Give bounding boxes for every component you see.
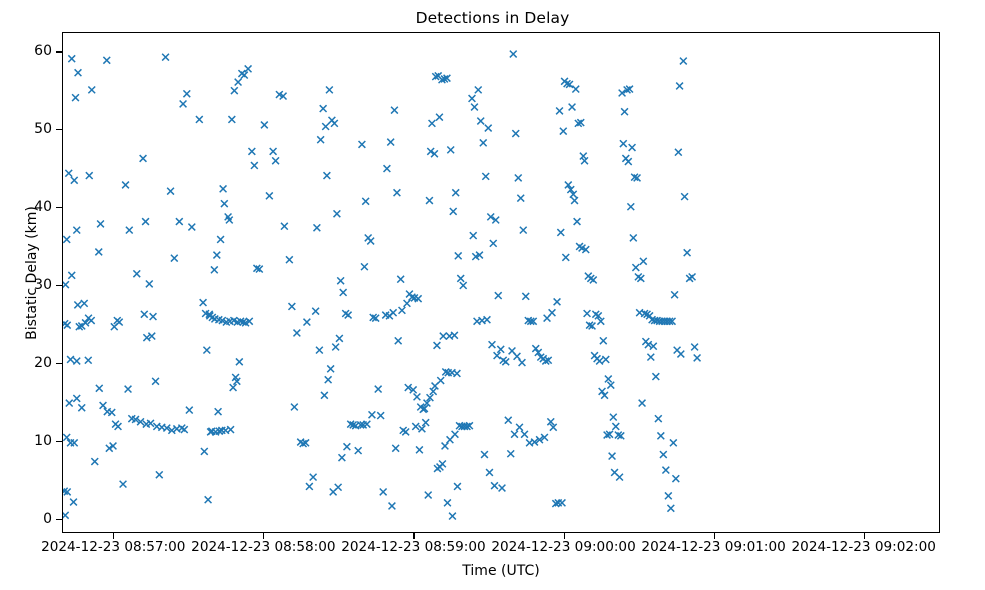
scatter-marker: [63, 434, 70, 441]
scatter-marker: [97, 220, 104, 227]
scatter-points-layer: [63, 33, 940, 533]
scatter-marker: [66, 400, 73, 407]
scatter-marker: [665, 492, 672, 499]
chart-title: Detections in Delay: [0, 9, 985, 27]
scatter-marker: [75, 69, 82, 76]
scatter-marker: [122, 182, 129, 189]
scatter-marker: [491, 482, 498, 489]
scatter-marker: [395, 337, 402, 344]
scatter-marker: [675, 149, 682, 156]
scatter-marker: [526, 439, 533, 446]
scatter-marker: [65, 170, 72, 177]
scatter-marker: [509, 348, 516, 355]
scatter-marker: [627, 203, 634, 210]
scatter-marker: [120, 481, 127, 488]
scatter-marker: [126, 227, 133, 234]
y-axis-tick-label: 60: [34, 43, 52, 59]
scatter-marker: [251, 162, 258, 169]
scatter-marker: [291, 404, 298, 411]
scatter-marker: [327, 365, 334, 372]
scatter-marker: [471, 104, 478, 111]
scatter-marker: [310, 474, 317, 481]
scatter-marker: [331, 120, 338, 127]
scatter-marker: [425, 492, 432, 499]
scatter-marker: [211, 266, 218, 273]
scatter-marker: [481, 451, 488, 458]
scatter-marker: [221, 200, 228, 207]
scatter-marker: [499, 485, 506, 492]
scatter-marker: [672, 475, 679, 482]
scatter-marker: [497, 346, 504, 353]
scatter-marker: [324, 172, 331, 179]
scatter-marker: [332, 344, 339, 351]
scatter-marker: [480, 139, 487, 146]
scatter-marker: [171, 255, 178, 262]
scatter-marker: [67, 356, 74, 363]
scatter-marker: [426, 197, 433, 204]
scatter-marker: [322, 123, 329, 130]
scatter-marker: [414, 393, 421, 400]
scatter-marker: [434, 342, 441, 349]
scatter-marker: [176, 218, 183, 225]
scatter-marker: [115, 423, 122, 430]
plot-area: [62, 32, 940, 533]
scatter-marker: [167, 188, 174, 195]
y-axis-tick-label: 0: [43, 511, 52, 527]
scatter-marker: [629, 144, 636, 151]
scatter-marker: [681, 193, 688, 200]
scatter-marker: [266, 192, 273, 199]
scatter-marker: [429, 120, 436, 127]
scatter-marker: [133, 270, 140, 277]
scatter-marker: [220, 185, 227, 192]
scatter-marker: [470, 232, 477, 239]
scatter-marker: [482, 173, 489, 180]
scatter-marker: [572, 86, 579, 93]
scatter-marker: [655, 415, 662, 422]
scatter-series-detections: [63, 51, 701, 520]
scatter-marker: [380, 489, 387, 496]
scatter-marker: [519, 359, 526, 366]
scatter-marker: [490, 240, 497, 247]
scatter-marker: [261, 122, 268, 129]
scatter-marker: [355, 447, 362, 454]
scatter-marker: [447, 436, 454, 443]
scatter-marker: [228, 116, 235, 123]
scatter-marker: [521, 431, 528, 438]
scatter-marker: [73, 358, 80, 365]
scatter-marker: [449, 513, 456, 520]
scatter-marker: [186, 407, 193, 414]
scatter-marker: [632, 264, 639, 271]
scatter-marker: [245, 65, 252, 72]
scatter-marker: [213, 252, 220, 259]
scatter-marker: [502, 358, 509, 365]
scatter-marker: [486, 469, 493, 476]
scatter-marker: [146, 280, 153, 287]
x-axis-tick-label: 2024-12-23 09:01:00: [641, 539, 785, 555]
scatter-marker: [270, 148, 277, 155]
scatter-marker: [600, 337, 607, 344]
scatter-marker: [392, 445, 399, 452]
scatter-marker: [68, 272, 75, 279]
scatter-marker: [100, 402, 107, 409]
scatter-marker: [391, 107, 398, 114]
scatter-marker: [469, 95, 476, 102]
scatter-marker: [432, 383, 439, 390]
scatter-marker: [306, 483, 313, 490]
x-axis-tick-label: 2024-12-23 09:00:00: [491, 539, 635, 555]
scatter-marker: [647, 354, 654, 361]
scatter-marker: [236, 358, 243, 365]
scatter-marker: [605, 376, 612, 383]
scatter-marker: [96, 385, 103, 392]
x-axis-label: Time (UTC): [62, 563, 940, 579]
scatter-marker: [515, 175, 522, 182]
scatter-marker: [422, 419, 429, 426]
x-axis-tick-label: 2024-12-23 09:02:00: [792, 539, 936, 555]
scatter-marker: [340, 289, 347, 296]
scatter-marker: [85, 357, 92, 364]
scatter-marker: [72, 94, 79, 101]
scatter-marker: [281, 223, 288, 230]
scatter-marker: [71, 177, 78, 184]
scatter-marker: [630, 235, 637, 242]
scatter-marker: [196, 116, 203, 123]
scatter-marker: [694, 355, 701, 362]
scatter-marker: [439, 460, 446, 467]
scatter-marker: [516, 424, 523, 431]
scatter-marker: [227, 426, 234, 433]
scatter-marker: [650, 343, 657, 350]
scatter-marker: [689, 273, 696, 280]
scatter-marker: [86, 172, 93, 179]
scatter-marker: [662, 467, 669, 474]
scatter-marker: [584, 310, 591, 317]
scatter-marker: [620, 140, 627, 147]
scatter-marker: [554, 298, 561, 305]
scatter-marker: [330, 489, 337, 496]
scatter-marker: [680, 58, 687, 65]
scatter-marker: [389, 503, 396, 510]
scatter-marker: [384, 165, 391, 172]
scatter-marker: [440, 333, 447, 340]
scatter-marker: [108, 409, 115, 416]
scatter-marker: [334, 210, 341, 217]
scatter-marker: [454, 483, 461, 490]
scatter-marker: [652, 373, 659, 380]
scatter-marker: [607, 382, 614, 389]
scatter-marker: [444, 499, 451, 506]
scatter-marker: [345, 312, 352, 319]
scatter-marker: [522, 293, 529, 300]
scatter-marker: [507, 450, 514, 457]
scatter-marker: [475, 86, 482, 93]
scatter-marker: [63, 512, 69, 519]
scatter-marker: [74, 302, 81, 309]
scatter-marker: [560, 128, 567, 135]
scatter-marker: [63, 236, 70, 243]
scatter-marker: [494, 352, 501, 359]
scatter-marker: [78, 404, 85, 411]
scatter-marker: [474, 318, 481, 325]
scatter-marker: [230, 384, 237, 391]
chart-figure: Detections in Delay 0102030405060 2024-1…: [0, 0, 985, 590]
x-axis-tick-label: 2024-12-23 08:58:00: [191, 539, 335, 555]
scatter-marker: [367, 238, 374, 245]
scatter-marker: [412, 423, 419, 430]
scatter-marker: [610, 414, 617, 421]
scatter-marker: [457, 275, 464, 282]
scatter-marker: [399, 307, 406, 314]
scatter-marker: [317, 136, 324, 143]
scatter-marker: [691, 344, 698, 351]
scatter-marker: [142, 218, 149, 225]
scatter-marker: [667, 505, 674, 512]
scatter-marker: [200, 299, 207, 306]
scatter-marker: [571, 197, 578, 204]
scatter-marker: [73, 395, 80, 402]
scatter-marker: [574, 218, 581, 225]
scatter-marker: [639, 400, 646, 407]
scatter-marker: [455, 252, 462, 259]
scatter-marker: [637, 275, 644, 282]
scatter-marker: [293, 330, 300, 337]
scatter-marker: [205, 496, 212, 503]
scatter-marker: [609, 453, 616, 460]
scatter-marker: [313, 224, 320, 231]
scatter-marker: [183, 90, 190, 97]
scatter-marker: [64, 322, 71, 329]
scatter-marker: [419, 425, 426, 432]
y-axis-tick-label: 10: [34, 433, 52, 449]
scatter-marker: [684, 249, 691, 256]
scatter-marker: [640, 258, 647, 265]
scatter-marker: [495, 292, 502, 299]
scatter-marker: [559, 499, 566, 506]
scatter-marker: [231, 87, 238, 94]
scatter-marker: [320, 105, 327, 112]
scatter-marker: [562, 254, 569, 261]
scatter-marker: [557, 229, 564, 236]
scatter-marker: [452, 189, 459, 196]
scatter-marker: [162, 54, 169, 61]
scatter-marker: [397, 276, 404, 283]
scatter-marker: [68, 55, 75, 62]
scatter-marker: [141, 311, 148, 318]
scatter-marker: [201, 448, 208, 455]
scatter-marker: [235, 79, 242, 86]
scatter-marker: [103, 57, 110, 64]
scatter-marker: [339, 454, 346, 461]
scatter-marker: [454, 370, 461, 377]
scatter-marker: [477, 118, 484, 125]
scatter-marker: [394, 189, 401, 196]
scatter-marker: [375, 386, 382, 393]
scatter-marker: [602, 356, 609, 363]
scatter-marker: [556, 108, 563, 115]
scatter-marker: [402, 429, 409, 436]
scatter-marker: [188, 224, 195, 231]
scatter-marker: [336, 335, 343, 342]
y-axis-label: Bistatic Delay (km): [24, 133, 40, 413]
scatter-marker: [217, 236, 224, 243]
scatter-marker: [153, 423, 160, 430]
scatter-marker: [671, 291, 678, 298]
scatter-marker: [114, 317, 121, 324]
scatter-marker: [377, 412, 384, 419]
scatter-marker: [520, 227, 527, 234]
scatter-marker: [676, 83, 683, 90]
scatter-marker: [387, 139, 394, 146]
scatter-marker: [510, 51, 517, 58]
scatter-marker: [81, 300, 88, 307]
scatter-marker: [625, 158, 632, 165]
scatter-marker: [447, 146, 454, 153]
scatter-marker: [156, 471, 163, 478]
scatter-marker: [430, 388, 437, 395]
scatter-marker: [442, 443, 449, 450]
scatter-marker: [612, 423, 619, 430]
scatter-marker: [674, 347, 681, 354]
scatter-marker: [362, 198, 369, 205]
scatter-marker: [621, 108, 628, 115]
scatter-marker: [325, 376, 332, 383]
scatter-marker: [111, 323, 118, 330]
scatter-marker: [312, 308, 319, 315]
scatter-marker: [450, 208, 457, 215]
scatter-marker: [344, 443, 351, 450]
scatter-marker: [569, 104, 576, 111]
x-axis-tick-label: 2024-12-23 08:57:00: [41, 539, 185, 555]
scatter-marker: [91, 458, 98, 465]
scatter-marker: [73, 227, 80, 234]
scatter-marker: [326, 86, 333, 93]
scatter-marker: [286, 256, 293, 263]
scatter-marker: [63, 281, 69, 288]
scatter-marker: [95, 249, 102, 256]
scatter-marker: [505, 417, 512, 424]
scatter-marker: [359, 141, 366, 148]
scatter-marker: [288, 303, 295, 310]
scatter-marker: [316, 347, 323, 354]
scatter-marker: [616, 474, 623, 481]
scatter-marker: [241, 72, 248, 79]
scatter-marker: [140, 155, 147, 162]
scatter-marker: [436, 114, 443, 121]
scatter-marker: [404, 300, 411, 307]
scatter-marker: [152, 378, 159, 385]
scatter-marker: [544, 315, 551, 322]
x-axis-tick-label: 2024-12-23 08:59:00: [341, 539, 485, 555]
scatter-marker: [71, 439, 78, 446]
scatter-marker: [657, 432, 664, 439]
scatter-marker: [446, 333, 453, 340]
scatter-marker: [248, 148, 255, 155]
scatter-marker: [485, 125, 492, 132]
scatter-marker: [369, 411, 376, 418]
scatter-marker: [150, 313, 157, 320]
scatter-marker: [511, 431, 518, 438]
scatter-marker: [88, 86, 95, 93]
scatter-marker: [272, 157, 279, 164]
scatter-marker: [180, 101, 187, 108]
scatter-marker: [517, 195, 524, 202]
scatter-marker: [460, 282, 467, 289]
scatter-marker: [321, 392, 328, 399]
scatter-marker: [215, 408, 222, 415]
scatter-marker: [590, 277, 597, 284]
scatter-marker: [125, 386, 132, 393]
scatter-marker: [361, 263, 368, 270]
scatter-marker: [596, 358, 603, 365]
scatter-marker: [416, 446, 423, 453]
scatter-marker: [660, 451, 667, 458]
scatter-marker: [670, 439, 677, 446]
scatter-marker: [489, 341, 496, 348]
scatter-marker: [203, 347, 210, 354]
scatter-marker: [512, 130, 519, 137]
scatter-marker: [70, 499, 77, 506]
scatter-marker: [645, 341, 652, 348]
scatter-marker: [303, 319, 310, 326]
scatter-marker: [337, 277, 344, 284]
